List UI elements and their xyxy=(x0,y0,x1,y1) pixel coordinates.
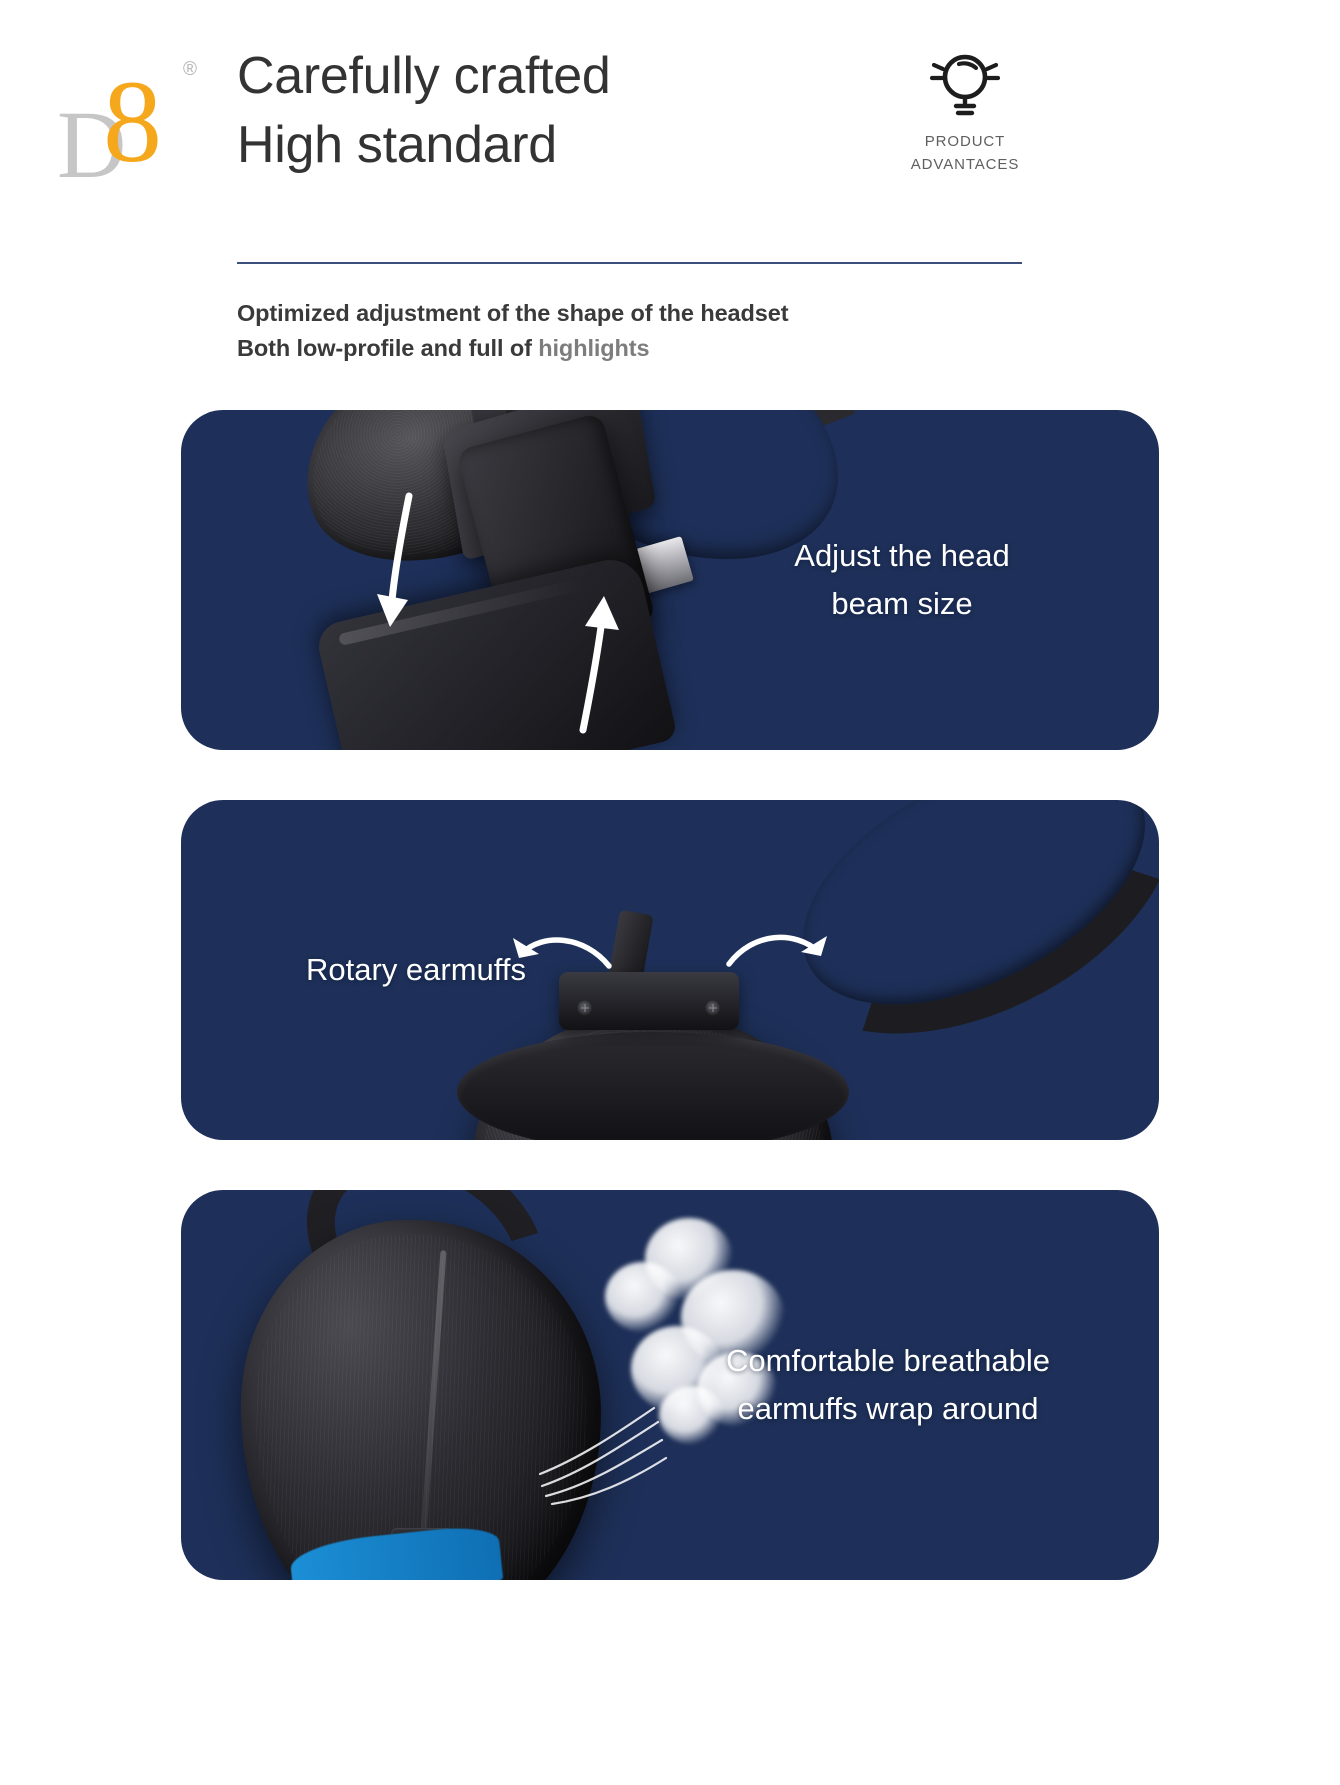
header-divider xyxy=(237,262,1022,264)
product-advantages-badge: PRODUCT ADVANTACES xyxy=(885,38,1045,177)
subtitle-line-2: Both low-profile and full of highlights xyxy=(237,331,788,366)
feature-card-adjust-head-beam[interactable]: Adjust the head beam size xyxy=(181,410,1159,750)
badge-label: PRODUCT ADVANTACES xyxy=(885,130,1045,177)
page-subtitle: Optimized adjustment of the shape of the… xyxy=(237,296,788,365)
arrow-up-icon xyxy=(559,590,639,740)
caption-line-2: earmuffs wrap around xyxy=(663,1385,1113,1433)
feature-card-breathable-earmuffs[interactable]: Comfortable breathable earmuffs wrap aro… xyxy=(181,1190,1159,1580)
logo-number-8: 8 xyxy=(103,63,162,181)
subtitle-line-2-text: Both low-profile and full of xyxy=(237,335,538,361)
caption-line-2: beam size xyxy=(707,580,1097,628)
caption-line-1: Comfortable breathable xyxy=(663,1337,1113,1385)
rotate-right-icon xyxy=(721,916,831,986)
registered-trademark-icon: ® xyxy=(183,59,197,81)
subtitle-line-1: Optimized adjustment of the shape of the… xyxy=(237,296,788,331)
brand-logo: D 8 ® xyxy=(55,45,215,175)
headline-line-2: High standard xyxy=(237,111,611,180)
subtitle-highlight-word: highlights xyxy=(538,335,649,361)
badge-label-line-2: ADVANTACES xyxy=(885,153,1045,176)
feature-caption-breathable-earmuffs: Comfortable breathable earmuffs wrap aro… xyxy=(663,1337,1113,1433)
badge-label-line-1: PRODUCT xyxy=(885,130,1045,153)
headline-line-1: Carefully crafted xyxy=(237,42,611,111)
page-title: Carefully crafted High standard xyxy=(237,42,611,180)
feature-caption-rotary-earmuffs: Rotary earmuffs xyxy=(236,946,596,994)
feature-card-rotary-earmuffs[interactable]: Rotary earmuffs xyxy=(181,800,1159,1140)
lightbulb-icon xyxy=(885,38,1045,130)
caption-line-1: Rotary earmuffs xyxy=(236,946,596,994)
page-header: D 8 ® Carefully crafted High standard PR… xyxy=(0,0,1340,250)
caption-line-1: Adjust the head xyxy=(707,532,1097,580)
arrow-down-icon xyxy=(371,490,451,640)
feature-card-list: Adjust the head beam size Rotary earmuff… xyxy=(0,410,1340,1630)
feature-caption-adjust-head-beam: Adjust the head beam size xyxy=(707,532,1097,628)
